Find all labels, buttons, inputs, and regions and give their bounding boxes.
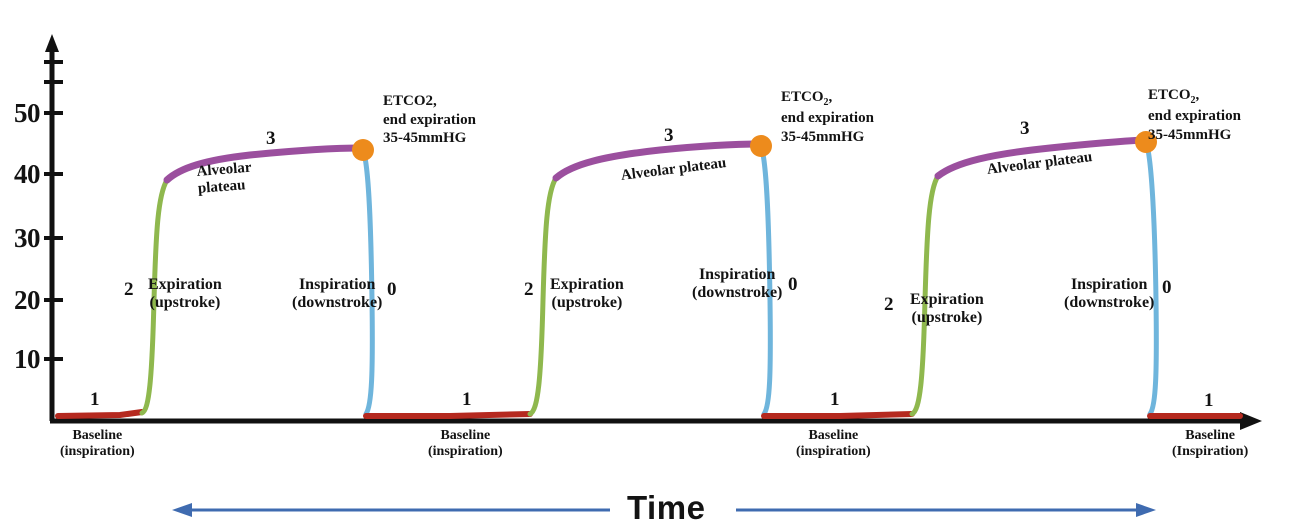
etco2-line1-tail: , (829, 89, 833, 105)
phase-number-2-cycle-1: 2 (124, 279, 134, 300)
etco2-line1-tail: , (1196, 87, 1200, 103)
x-axis (50, 412, 1262, 430)
phase-number-1-cycle-2: 1 (462, 389, 472, 410)
etco2-line1-main: ETCO (781, 89, 824, 105)
inspiration-label-line1: Inspiration (692, 266, 782, 284)
time-axis-label: Time (627, 490, 705, 527)
waveform-plot (0, 0, 1301, 532)
etco2-line2: end expiration (781, 109, 874, 128)
inspiration-label-line1: Inspiration (1064, 276, 1154, 294)
baseline-label-line2: (inspiration) (60, 444, 135, 460)
expiration-label-cycle-2: Expiration (upstroke) (550, 276, 624, 312)
baseline-label-line2: (inspiration) (796, 444, 871, 460)
inspiration-label-line1: Inspiration (292, 276, 382, 294)
phase-number-2-cycle-2: 2 (524, 279, 534, 300)
etco2-line2: end expiration (1148, 107, 1241, 126)
inspiration-label-line2: (downstroke) (692, 284, 782, 302)
expiration-label-cycle-3: Expiration (upstroke) (910, 291, 984, 327)
y-tick-label-10: 10 (14, 344, 40, 374)
inspiration-label-cycle-3: Inspiration (downstroke) (1064, 276, 1154, 312)
expiration-label-line1: Expiration (550, 276, 624, 294)
baseline-label-line1: Baseline (428, 428, 503, 444)
phase-number-0-cycle-3: 0 (1162, 277, 1172, 298)
capnography-figure: 50 40 30 20 10 1 Baseline (inspiration) … (0, 0, 1301, 532)
capnogram-cycle-3 (764, 131, 1157, 416)
etco2-peak-dot-2 (750, 135, 772, 157)
phase-number-3-cycle-3: 3 (1020, 118, 1030, 139)
baseline-label-line2: (inspiration) (428, 444, 503, 460)
etco2-annotation-cycle-3: ETCO2, end expiration 35-45mmHG (1148, 86, 1241, 145)
phase-number-3-cycle-1: 3 (266, 128, 276, 149)
baseline-segment-1 (58, 412, 142, 416)
etco2-line3: 35-45mmHG (781, 128, 874, 147)
baseline-label-cycle-3: Baseline (inspiration) (796, 428, 871, 459)
etco2-line1: ETCO2, (1148, 86, 1241, 107)
expiration-label-cycle-1: Expiration (upstroke) (148, 276, 222, 312)
inspiration-label-cycle-2: Inspiration (downstroke) (692, 266, 782, 302)
phase-number-0-cycle-1: 0 (387, 279, 397, 300)
expiration-label-line2: (upstroke) (148, 294, 222, 312)
expiration-label-line2: (upstroke) (550, 294, 624, 312)
etco2-line1: ETCO2, (781, 88, 874, 109)
phase-number-1-final: 1 (1204, 390, 1214, 411)
etco2-line3: 35-45mmHG (1148, 126, 1241, 145)
etco2-line3: 35-45mmHG (383, 129, 476, 148)
baseline-label-final: Baseline (Inspiration) (1172, 428, 1248, 459)
inspiration-label-line2: (downstroke) (292, 294, 382, 312)
expiration-label-line1: Expiration (148, 276, 222, 294)
baseline-label-cycle-2: Baseline (inspiration) (428, 428, 503, 459)
etco2-line2: end expiration (383, 111, 476, 130)
etco2-annotation-cycle-1: ETCO2, end expiration 35-45mmHG (383, 92, 476, 148)
y-tick-label-50: 50 (14, 98, 40, 128)
phase-number-1-cycle-1: 1 (90, 389, 100, 410)
y-axis (44, 34, 63, 421)
etco2-annotation-cycle-2: ETCO2, end expiration 35-45mmHG (781, 88, 874, 147)
baseline-label-cycle-1: Baseline (inspiration) (60, 428, 135, 459)
phase-number-1-cycle-3: 1 (830, 389, 840, 410)
baseline-label-line1: Baseline (796, 428, 871, 444)
y-tick-label-20: 20 (14, 285, 40, 315)
y-tick-label-30: 30 (14, 223, 40, 253)
baseline-label-line1: Baseline (60, 428, 135, 444)
etco2-line1: ETCO2, (383, 92, 476, 111)
baseline-segment-3 (764, 414, 912, 416)
baseline-label-line2: (Inspiration) (1172, 444, 1248, 460)
baseline-segment-2 (366, 414, 530, 416)
inspiration-label-cycle-1: Inspiration (downstroke) (292, 276, 382, 312)
phase-number-0-cycle-2: 0 (788, 274, 798, 295)
alveolar-plateau-label-cycle-1: Alveolar plateau (196, 160, 253, 198)
inspiration-label-line2: (downstroke) (1064, 294, 1154, 312)
expiration-label-line1: Expiration (910, 291, 984, 309)
phase-number-2-cycle-3: 2 (884, 294, 894, 315)
etco2-peak-dot-1 (352, 139, 374, 161)
expiration-label-line2: (upstroke) (910, 309, 984, 327)
phase-number-3-cycle-2: 3 (664, 125, 674, 146)
baseline-label-line1: Baseline (1172, 428, 1248, 444)
y-tick-label-40: 40 (14, 159, 40, 189)
etco2-line1-main: ETCO (1148, 87, 1191, 103)
